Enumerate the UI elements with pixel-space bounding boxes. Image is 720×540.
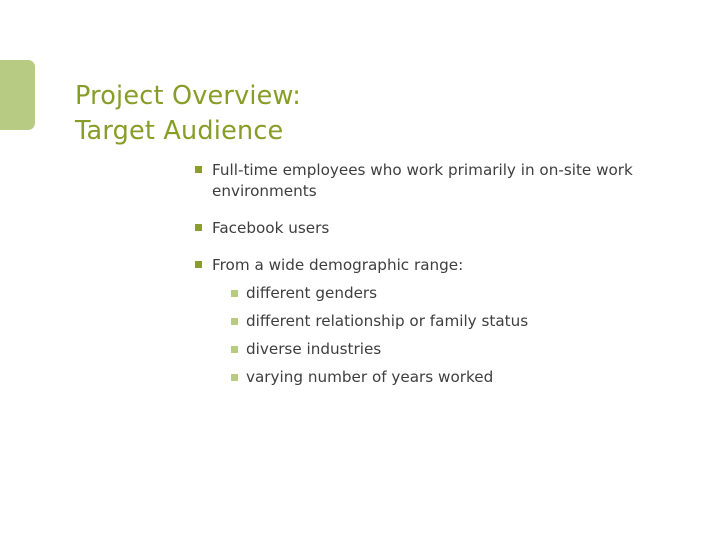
sub-list-item-label: varying number of years worked: [246, 365, 663, 390]
sub-list-item-label: different genders: [246, 281, 663, 306]
sub-bullet-list: different genders different relationship…: [212, 281, 663, 390]
bullet-square-icon: [195, 166, 202, 173]
sub-list-item: varying number of years worked: [230, 365, 663, 390]
list-item-label: Full-time employees who work primarily i…: [212, 160, 663, 202]
sub-bullet-square-icon: [231, 374, 238, 381]
list-item: Full-time employees who work primarily i…: [193, 160, 663, 202]
sub-bullet-square-icon: [231, 318, 238, 325]
slide: Project Overview: Target Audience Full-t…: [0, 0, 720, 540]
sub-list-item: diverse industries: [230, 337, 663, 362]
bullet-square-icon: [195, 224, 202, 231]
content-body: Full-time employees who work primarily i…: [193, 160, 663, 390]
sub-list-item: different genders: [230, 281, 663, 306]
list-item-label: From a wide demographic range:: [212, 255, 663, 276]
sub-list-item-label: different relationship or family status: [246, 309, 663, 334]
list-item: Facebook users: [193, 218, 663, 239]
page-title: Project Overview: Target Audience: [75, 79, 635, 149]
list-item-label: Facebook users: [212, 218, 663, 239]
decorative-accent-block: [0, 60, 35, 130]
page-title-line-2: Target Audience: [75, 114, 635, 149]
bullet-list: Full-time employees who work primarily i…: [193, 160, 663, 390]
list-item: From a wide demographic range: different…: [193, 255, 663, 390]
page-title-line-1: Project Overview:: [75, 79, 635, 114]
sub-list-item: different relationship or family status: [230, 309, 663, 334]
bullet-square-icon: [195, 261, 202, 268]
sub-bullet-square-icon: [231, 290, 238, 297]
sub-list-item-label: diverse industries: [246, 337, 663, 362]
sub-bullet-square-icon: [231, 346, 238, 353]
